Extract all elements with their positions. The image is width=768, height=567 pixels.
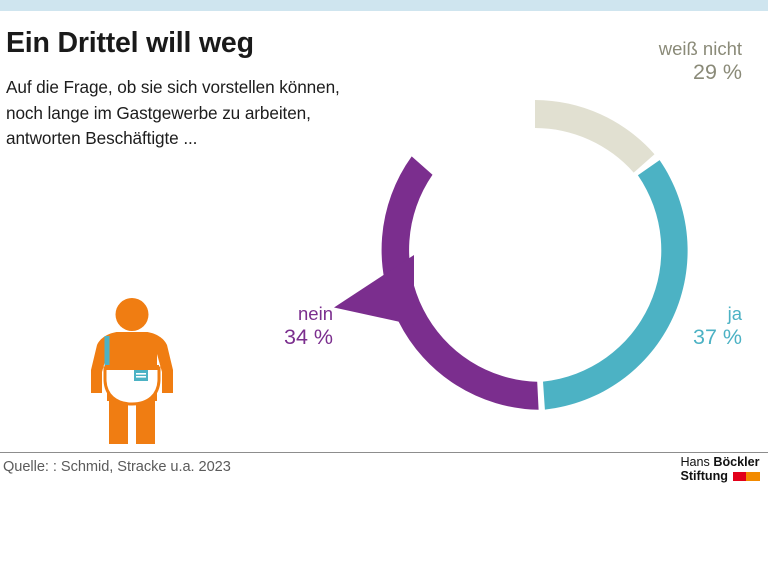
page-title: Ein Drittel will weg <box>6 29 254 59</box>
label-nein-name: nein <box>243 303 333 324</box>
logo-line-2: Stiftung <box>680 469 760 483</box>
footer-divider <box>0 452 768 453</box>
donut-callout-triangle <box>334 255 414 325</box>
worker-notepad-line-1 <box>136 373 146 375</box>
logo-line-1: Hans Böckler <box>680 455 760 469</box>
label-ja-name: ja <box>693 303 742 324</box>
hans-boeckler-stiftung-logo: Hans Böckler Stiftung <box>680 455 760 483</box>
label-nein: nein 34 % <box>243 303 333 350</box>
label-nein-value: 34 % <box>243 325 333 350</box>
logo-hans-text: Hans <box>680 455 709 469</box>
worker-apron <box>105 368 159 404</box>
top-accent-band <box>0 0 768 11</box>
label-weiss-nicht: weiß nicht 29 % <box>659 38 742 85</box>
donut-chart <box>330 55 740 455</box>
logo-mark-red <box>733 472 746 481</box>
subtitle-line-1: Auf die Frage, ob sie sich vorstellen kö… <box>6 75 340 101</box>
worker-notepad <box>134 370 148 381</box>
page-subtitle: Auf die Frage, ob sie sich vorstellen kö… <box>6 75 340 152</box>
hospitality-worker-svg <box>78 296 186 446</box>
worker-leg-right <box>136 399 155 444</box>
infographic-canvas: Ein Drittel will weg Auf die Frage, ob s… <box>0 0 768 567</box>
label-weiss-nicht-value: 29 % <box>659 60 742 85</box>
donut-slice-weiss-nicht <box>535 100 655 173</box>
donut-chart-svg <box>330 55 740 455</box>
worker-head <box>116 298 149 331</box>
label-ja: ja 37 % <box>693 303 742 350</box>
logo-mark <box>733 472 760 481</box>
logo-boeckler-text: Böckler <box>713 455 759 469</box>
donut-slice-ja <box>543 160 688 410</box>
worker-notepad-line-2 <box>136 376 146 378</box>
worker-apron-band <box>105 365 159 370</box>
hospitality-worker-icon <box>78 296 186 446</box>
subtitle-line-3: antworten Beschäftigte ... <box>6 126 340 152</box>
label-weiss-nicht-name: weiß nicht <box>659 38 742 59</box>
logo-mark-orange <box>746 472 760 481</box>
subtitle-line-2: noch lange im Gastgewerbe zu arbeiten, <box>6 101 340 127</box>
source-note: Quelle: : Schmid, Stracke u.a. 2023 <box>3 459 231 475</box>
label-ja-value: 37 % <box>693 325 742 350</box>
worker-leg-left <box>109 399 128 444</box>
logo-stiftung-text: Stiftung <box>680 469 728 483</box>
